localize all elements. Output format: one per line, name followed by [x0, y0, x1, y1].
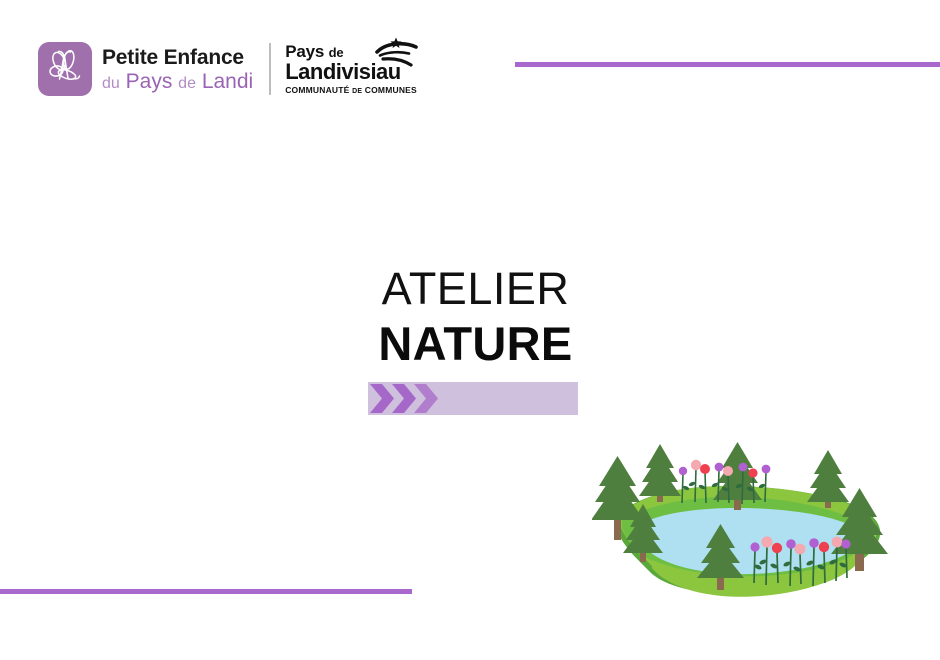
petite-enfance-logo: Petite Enfance du Pays de Landi [38, 42, 253, 96]
title-block: ATELIER NATURE [368, 266, 583, 415]
flower-cluster-front [750, 536, 850, 586]
island-scene-svg [592, 440, 892, 615]
pe-landi: Landi [202, 70, 253, 93]
nature-island-lake-illustration [592, 440, 892, 615]
cc-de: de [329, 45, 344, 60]
swoosh-star-icon [371, 37, 419, 67]
pe-du: du [102, 75, 120, 92]
page-title-line2: NATURE [368, 320, 583, 367]
flower-pink [723, 466, 733, 476]
flower-red [748, 468, 757, 477]
flower-pink [832, 537, 843, 548]
communaute-de-communes-logo: Pays de Landivisiau COMMUNAUTÉ DE COMMUN… [285, 43, 417, 95]
flower-purple [750, 542, 759, 551]
flower-purple [841, 539, 850, 548]
chevron-group-icon [368, 382, 578, 415]
flower-purple [762, 465, 771, 474]
flower-pink [795, 544, 806, 555]
butterfly-icon [44, 48, 86, 90]
flower-pink [761, 536, 772, 547]
chevron-1-icon [370, 384, 394, 413]
cc-de-2: DE [352, 88, 362, 95]
cc-communaute: COMMUNAUTÉ [285, 85, 349, 95]
tree-back-right [807, 450, 849, 508]
logo-bar: Petite Enfance du Pays de Landi Pays de … [38, 38, 417, 100]
title-accent-bar [368, 382, 578, 415]
cc-communes: COMMUNES [365, 85, 417, 95]
flower-red [772, 543, 782, 553]
bottom-horizontal-rule [0, 589, 412, 594]
flower-red [700, 464, 710, 474]
chevron-3-icon [414, 384, 438, 413]
petite-enfance-wordmark: Petite Enfance du Pays de Landi [102, 47, 253, 92]
logo-divider [269, 43, 271, 95]
flower-red [819, 542, 829, 552]
pe-pays: Pays [126, 70, 173, 93]
pe-title-line1: Petite Enfance [102, 47, 253, 68]
flower-purple [739, 463, 748, 472]
flower-purple [786, 539, 796, 549]
flower-purple [679, 467, 687, 475]
flower-purple [715, 463, 724, 472]
cc-subtitle: COMMUNAUTÉ DE COMMUNES [285, 86, 417, 95]
page-title-line1: ATELIER [368, 266, 583, 311]
pe-de: de [178, 75, 196, 92]
flower-pink [691, 460, 701, 470]
chevron-2-icon [392, 384, 416, 413]
flower-purple [809, 538, 819, 548]
butterfly-logo-tile [38, 42, 92, 96]
top-horizontal-rule [515, 62, 940, 67]
tree-back-two [639, 444, 681, 502]
pe-title-line2: du Pays de Landi [102, 71, 253, 92]
